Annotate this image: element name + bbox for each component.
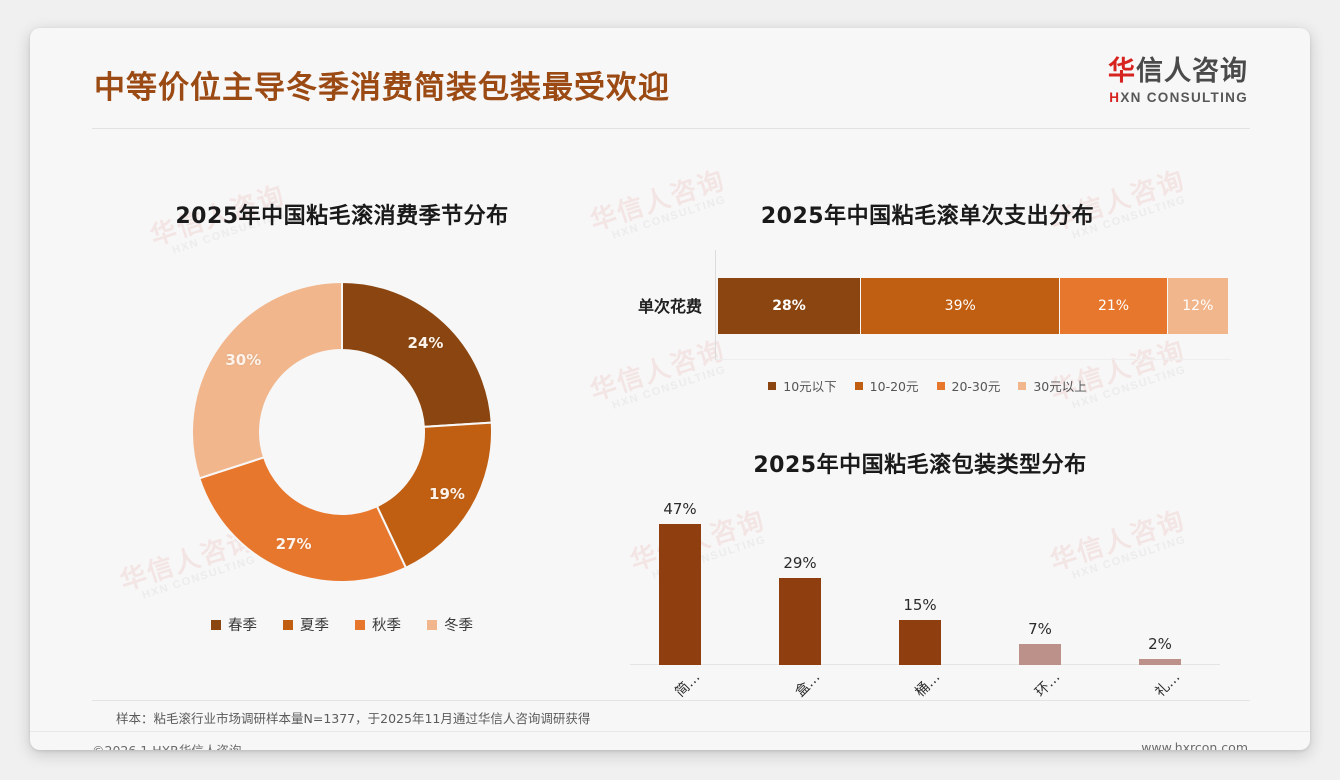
column-axis-label: 礼… — [1150, 667, 1184, 701]
chart-season-donut: 2025年中国粘毛滚消费季节分布 24% 19% 27% 30% 春季 夏季 秋… — [92, 168, 592, 668]
stacked-bar: 28% 39% 21% 12% — [718, 278, 1229, 334]
column-group: 7% 环… — [980, 505, 1100, 665]
column-group: 29% 盒… — [740, 505, 860, 665]
stacked-segment[interactable]: 12% — [1168, 278, 1229, 334]
donut-slice[interactable] — [192, 282, 342, 478]
page-title: 中等价位主导冬季消费简装包装最受欢迎 — [94, 62, 670, 107]
logo-cn-rest: 信人咨询 — [1136, 56, 1248, 87]
column-value-label: 2% — [1148, 635, 1172, 653]
legend-item[interactable]: 冬季 — [427, 614, 473, 635]
legend-swatch-icon — [937, 382, 945, 390]
donut-slice[interactable] — [199, 457, 406, 582]
column-axis-label: 环… — [1030, 667, 1064, 701]
column-value-label: 7% — [1028, 620, 1052, 638]
legend-label: 20-30元 — [952, 376, 1001, 395]
company-logo: 华信人咨询 HXN CONSULTING — [1108, 58, 1248, 105]
legend-swatch-icon — [1018, 382, 1026, 390]
column-group: 47% 简… — [620, 505, 740, 665]
donut-legend: 春季 夏季 秋季 冬季 — [92, 614, 592, 635]
stacked-segment[interactable]: 39% — [861, 278, 1060, 334]
donut-slice-label: 30% — [225, 351, 261, 369]
donut-slice-label: 19% — [429, 485, 465, 503]
column-value-label: 15% — [903, 596, 936, 614]
title-divider — [92, 128, 1250, 129]
legend-item[interactable]: 10-20元 — [855, 376, 919, 395]
logo-chinese-text: 华信人咨询 — [1108, 58, 1248, 85]
stacked-legend: 10元以下 10-20元 20-30元 30元以上 — [605, 376, 1250, 395]
column-plot-area: 47% 简… 29% 盒… 15% 桶… 7% 环… — [620, 505, 1220, 665]
column-axis-label: 简… — [670, 667, 704, 701]
legend-swatch-icon — [283, 620, 293, 630]
column-value-label: 47% — [663, 500, 696, 518]
stacked-segment[interactable]: 28% — [718, 278, 861, 334]
column-axis-label: 盒… — [790, 667, 824, 701]
column-bar[interactable]: 15% — [899, 620, 941, 665]
legend-swatch-icon — [355, 620, 365, 630]
legend-label: 30元以上 — [1033, 376, 1086, 395]
column-chart-title: 2025年中国粘毛滚包装类型分布 — [590, 447, 1250, 479]
logo-hua-char: 华 — [1108, 56, 1136, 87]
footnote-divider — [92, 700, 1250, 701]
stacked-category-label: 单次花费 — [638, 293, 702, 317]
chart-spend-stacked: 2025年中国粘毛滚单次支出分布 单次花费 28% 39% 21% 12% 10… — [605, 168, 1250, 418]
logo-english-text: HXN CONSULTING — [1108, 90, 1248, 105]
legend-item[interactable]: 20-30元 — [937, 376, 1001, 395]
footer-divider — [30, 731, 1310, 732]
column-bar[interactable]: 7% — [1019, 644, 1061, 665]
donut-plot-area: 24% 19% 27% 30% — [182, 272, 502, 592]
logo-en-rest: XN CONSULTING — [1120, 90, 1248, 105]
legend-label: 春季 — [228, 614, 257, 635]
legend-item[interactable]: 10元以下 — [768, 376, 836, 395]
footer-website[interactable]: www.hxrcon.com — [1141, 740, 1248, 750]
stacked-chart-title: 2025年中国粘毛滚单次支出分布 — [605, 198, 1250, 230]
legend-item[interactable]: 夏季 — [283, 614, 329, 635]
slide-canvas: 华信人咨询 HXN CONSULTING 华信人咨询 HXN CONSULTIN… — [30, 28, 1310, 750]
column-bar[interactable]: 29% — [779, 578, 821, 665]
column-value-label: 29% — [783, 554, 816, 572]
logo-en-initial: H — [1109, 90, 1120, 105]
legend-label: 冬季 — [444, 614, 473, 635]
column-group: 2% 礼… — [1100, 505, 1220, 665]
column-bar[interactable]: 47% — [659, 524, 701, 665]
legend-item[interactable]: 春季 — [211, 614, 257, 635]
donut-slice[interactable] — [342, 282, 492, 427]
donut-slice-label: 27% — [276, 535, 312, 553]
stacked-segment[interactable]: 21% — [1060, 278, 1167, 334]
legend-swatch-icon — [855, 382, 863, 390]
footnote-text: 样本：粘毛滚行业市场调研样本量N=1377，于2025年11月通过华信人咨询调研… — [116, 708, 590, 727]
column-group: 15% 桶… — [860, 505, 980, 665]
chart-package-column: 2025年中国粘毛滚包装类型分布 47% 简… 29% 盒… 15% 桶… — [590, 433, 1250, 708]
column-axis-label: 桶… — [910, 667, 944, 701]
legend-label: 秋季 — [372, 614, 401, 635]
donut-slice-label: 24% — [408, 334, 444, 352]
donut-chart-title: 2025年中国粘毛滚消费季节分布 — [92, 198, 592, 230]
legend-label: 10元以下 — [783, 376, 836, 395]
slide-header: 中等价位主导冬季消费简装包装最受欢迎 华信人咨询 HXN CONSULTING — [30, 28, 1310, 128]
stacked-plot-area: 单次花费 28% 39% 21% 12% — [715, 250, 1231, 360]
legend-label: 10-20元 — [870, 376, 919, 395]
legend-item[interactable]: 30元以上 — [1018, 376, 1086, 395]
footer-copyright: ©2026.1 HXR华信人咨询 — [92, 740, 241, 750]
legend-swatch-icon — [211, 620, 221, 630]
donut-svg — [182, 272, 502, 592]
legend-swatch-icon — [768, 382, 776, 390]
legend-item[interactable]: 秋季 — [355, 614, 401, 635]
legend-swatch-icon — [427, 620, 437, 630]
column-bar[interactable]: 2% — [1139, 659, 1181, 665]
legend-label: 夏季 — [300, 614, 329, 635]
